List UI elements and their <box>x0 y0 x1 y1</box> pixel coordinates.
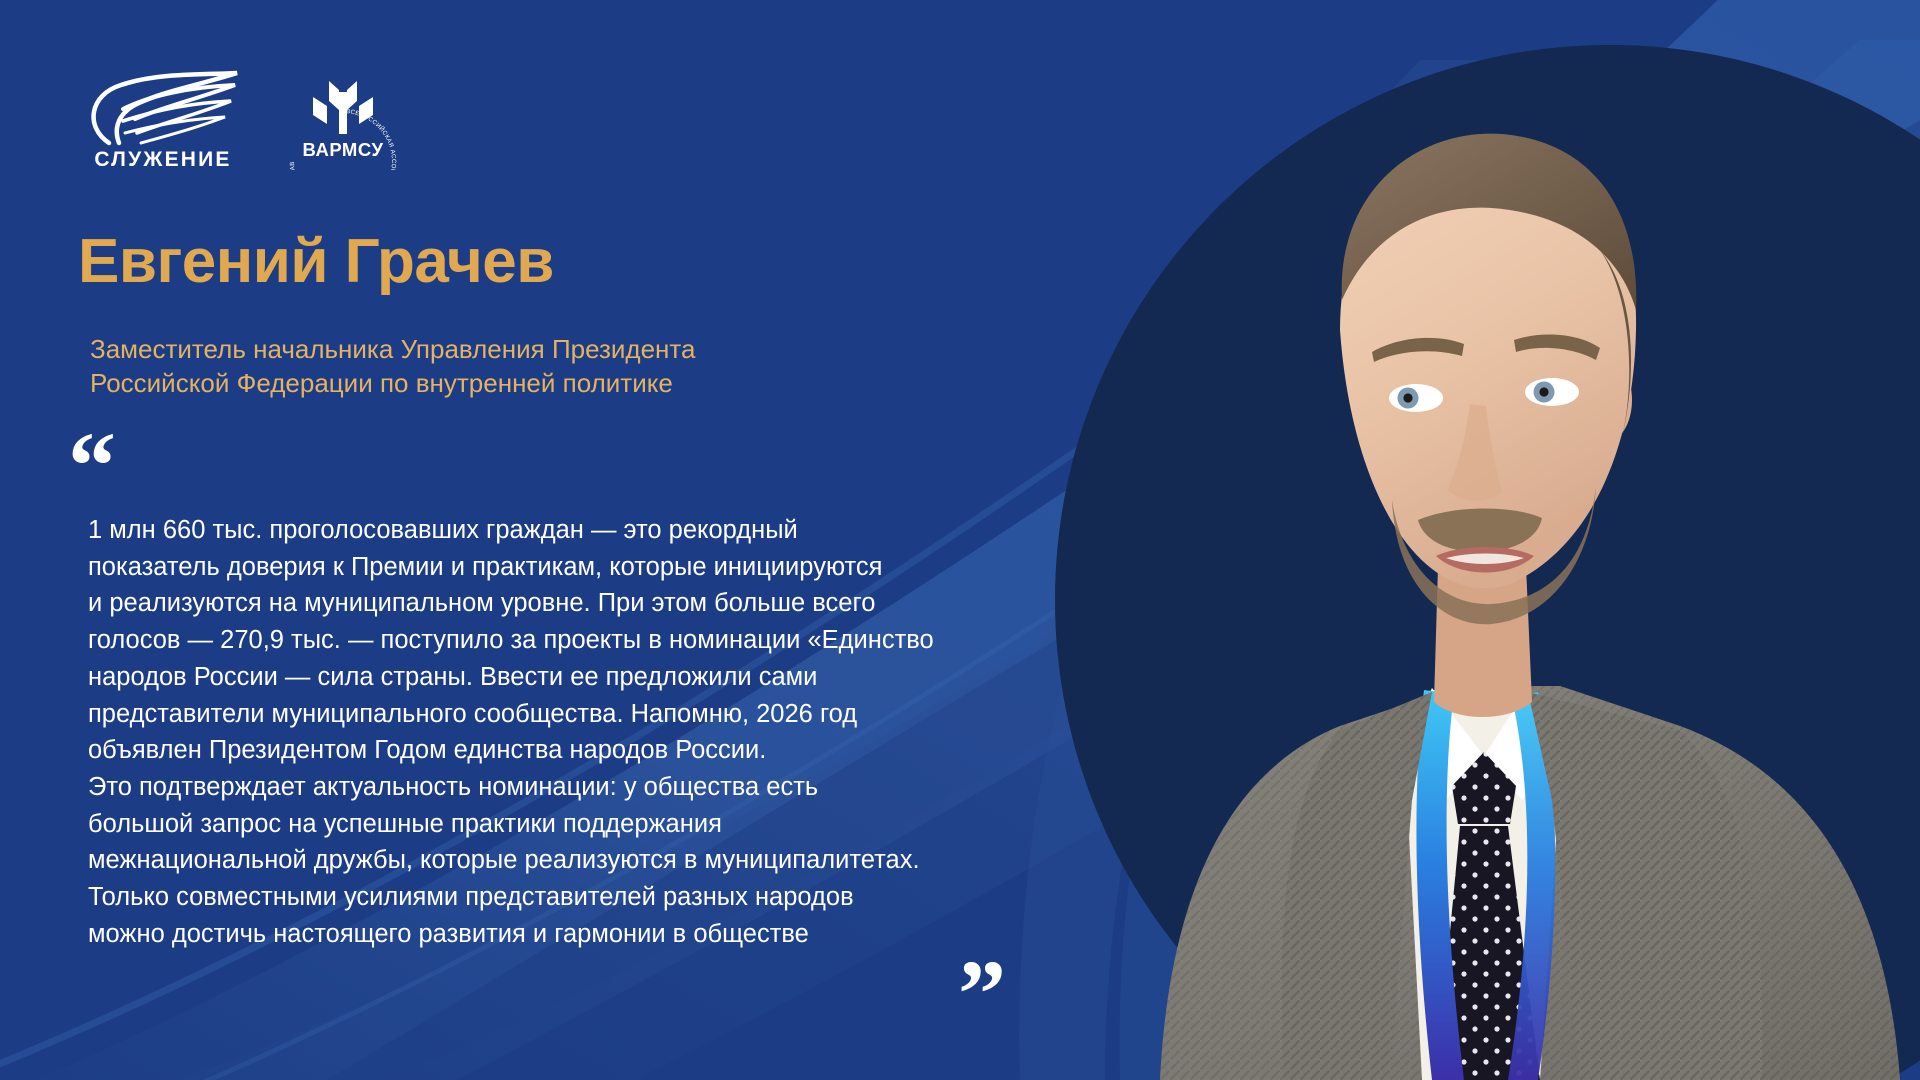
quote-line: Это подтверждает актуальность номинации:… <box>88 769 1118 806</box>
logo-row: СЛУЖЕНИЕ ВСЕРОССИЙСКАЯ АССОЦИАЦИЯ РАЗВИТ… <box>78 48 404 170</box>
quote-line: 1 млн 660 тыс. проголосовавших граждан —… <box>88 512 1118 549</box>
speaker-role: Заместитель начальника Управления Презид… <box>90 332 990 401</box>
varmsu-sprout-icon: ВСЕРОССИЙСКАЯ АССОЦИАЦИЯ РАЗВИТИЯ МЕСТНО… <box>282 48 404 170</box>
slide-canvas: СЛУЖЕНИЕ ВСЕРОССИЙСКАЯ АССОЦИАЦИЯ РАЗВИТ… <box>0 0 1920 1080</box>
quote-line: показатель доверия к Премии и практикам,… <box>88 549 1118 586</box>
quote-line: большой запрос на успешные практики подд… <box>88 806 1118 843</box>
logo-varmsu[interactable]: ВСЕРОССИЙСКАЯ АССОЦИАЦИЯ РАЗВИТИЯ МЕСТНО… <box>282 48 404 170</box>
speaker-name: Евгений Грачев <box>78 230 554 293</box>
logo-varmsu-wordmark: ВАРМСУ <box>303 139 384 160</box>
quote-line: объявлен Президентом Годом единства наро… <box>88 732 1118 769</box>
sluzhenie-wing-icon <box>79 69 247 147</box>
quote-open-mark: “ <box>68 432 116 499</box>
quote-line: представители муниципального сообщества.… <box>88 696 1118 733</box>
quote-line: Только совместными усилиями представител… <box>88 879 1118 916</box>
speaker-portrait <box>1040 0 1920 1080</box>
logo-sluzhenie-wordmark: СЛУЖЕНИЕ <box>94 149 231 170</box>
speaker-role-line-2: Российской Федерации по внутренней полит… <box>90 366 990 400</box>
quote-close-mark: ” <box>958 960 1006 1027</box>
quote-line: и реализуются на муниципальном уровне. П… <box>88 585 1118 622</box>
quote-line: голосов — 270,9 тыс. — поступило за прое… <box>88 622 1118 659</box>
logo-sluzhenie[interactable]: СЛУЖЕНИЕ <box>78 69 248 170</box>
quote-line: межнациональной дружбы, которые реализую… <box>88 842 1118 879</box>
speaker-role-line-1: Заместитель начальника Управления Презид… <box>90 332 990 366</box>
quote-line: народов России — сила страны. Ввести ее … <box>88 659 1118 696</box>
quote-text: 1 млн 660 тыс. проголосовавших граждан —… <box>88 512 1118 953</box>
speaker-portrait-icon <box>1040 0 1920 1080</box>
